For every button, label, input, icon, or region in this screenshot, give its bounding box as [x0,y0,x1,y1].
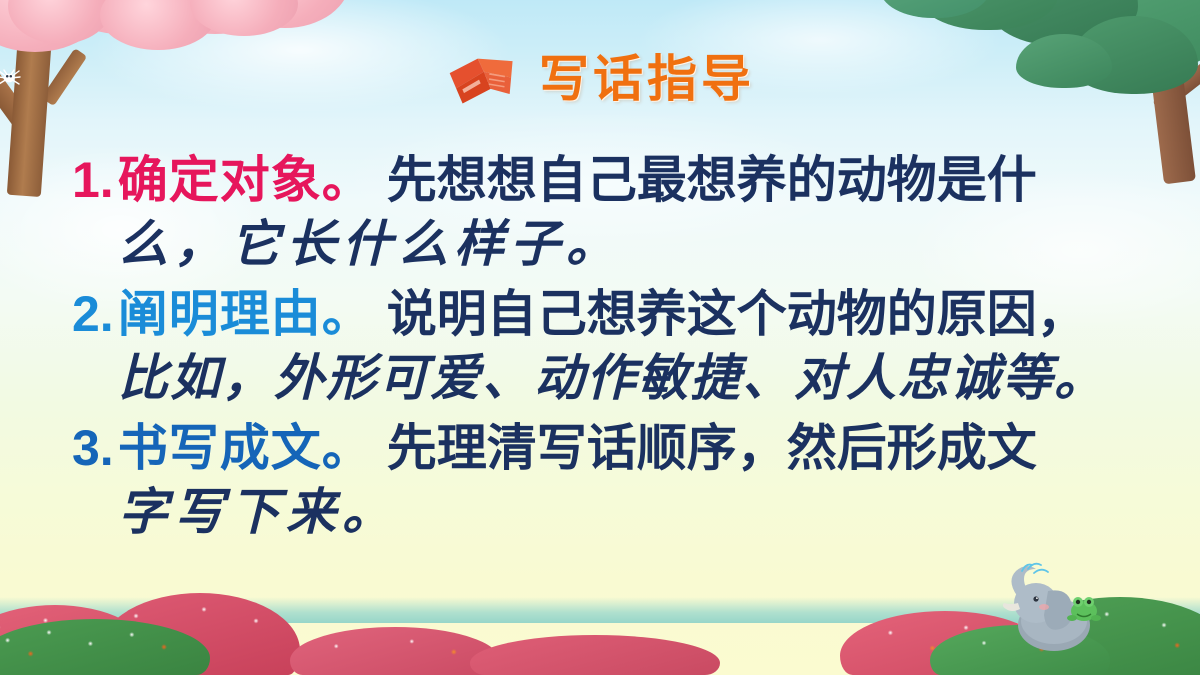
item-head-line: 1.确定对象。先想想自己最想养的动物是什 [72,148,1140,213]
item-body-text: 说明自己想养这个动物的原因， [387,286,1087,342]
item-continuation-line: 比如，外形可爱、动作敏捷、对人忠诚等。 [72,347,1140,410]
list-item: 1.确定对象。先想想自己最想养的动物是什 么，它长什么样子。 [72,148,1140,276]
item-keyphrase: 确定对象。 [118,152,373,208]
item-keyphrase: 阐明理由。 [118,286,373,342]
item-body-text: 先理清写话顺序，然后形成文 [387,420,1037,476]
open-book-icon [445,52,521,106]
slide-canvas: 写话指导 1.确定对象。先想想自己最想养的动物是什 么，它长什么样子。 2.阐明… [0,0,1200,675]
list-item: 3.书写成文。先理清写话顺序，然后形成文 字写下来。 [72,416,1140,544]
item-body-text: 先想想自己最想养的动物是什 [387,152,1037,208]
item-number: 1. [72,152,114,208]
item-head-line: 3.书写成文。先理清写话顺序，然后形成文 [72,416,1140,481]
item-keyphrase: 书写成文。 [118,420,373,476]
flower-bush [290,627,500,675]
elephant-icon [992,551,1112,651]
item-number: 3. [72,420,114,476]
bush-dots [290,627,500,675]
item-head-line: 2.阐明理由。说明自己想养这个动物的原因， [72,282,1140,347]
title-row: 写话指导 [0,52,1200,106]
list-item: 2.阐明理由。说明自己想养这个动物的原因， 比如，外形可爱、动作敏捷、对人忠诚等… [72,282,1140,410]
flower-bush [470,635,720,675]
page-title: 写话指导 [539,54,755,104]
item-continuation-line: 字写下来。 [72,481,1140,544]
item-continuation-line: 么，它长什么样子。 [72,213,1140,276]
item-number: 2. [72,286,114,342]
guidance-list: 1.确定对象。先想想自己最想养的动物是什 么，它长什么样子。 2.阐明理由。说明… [72,148,1140,550]
frog-icon [1067,597,1101,621]
